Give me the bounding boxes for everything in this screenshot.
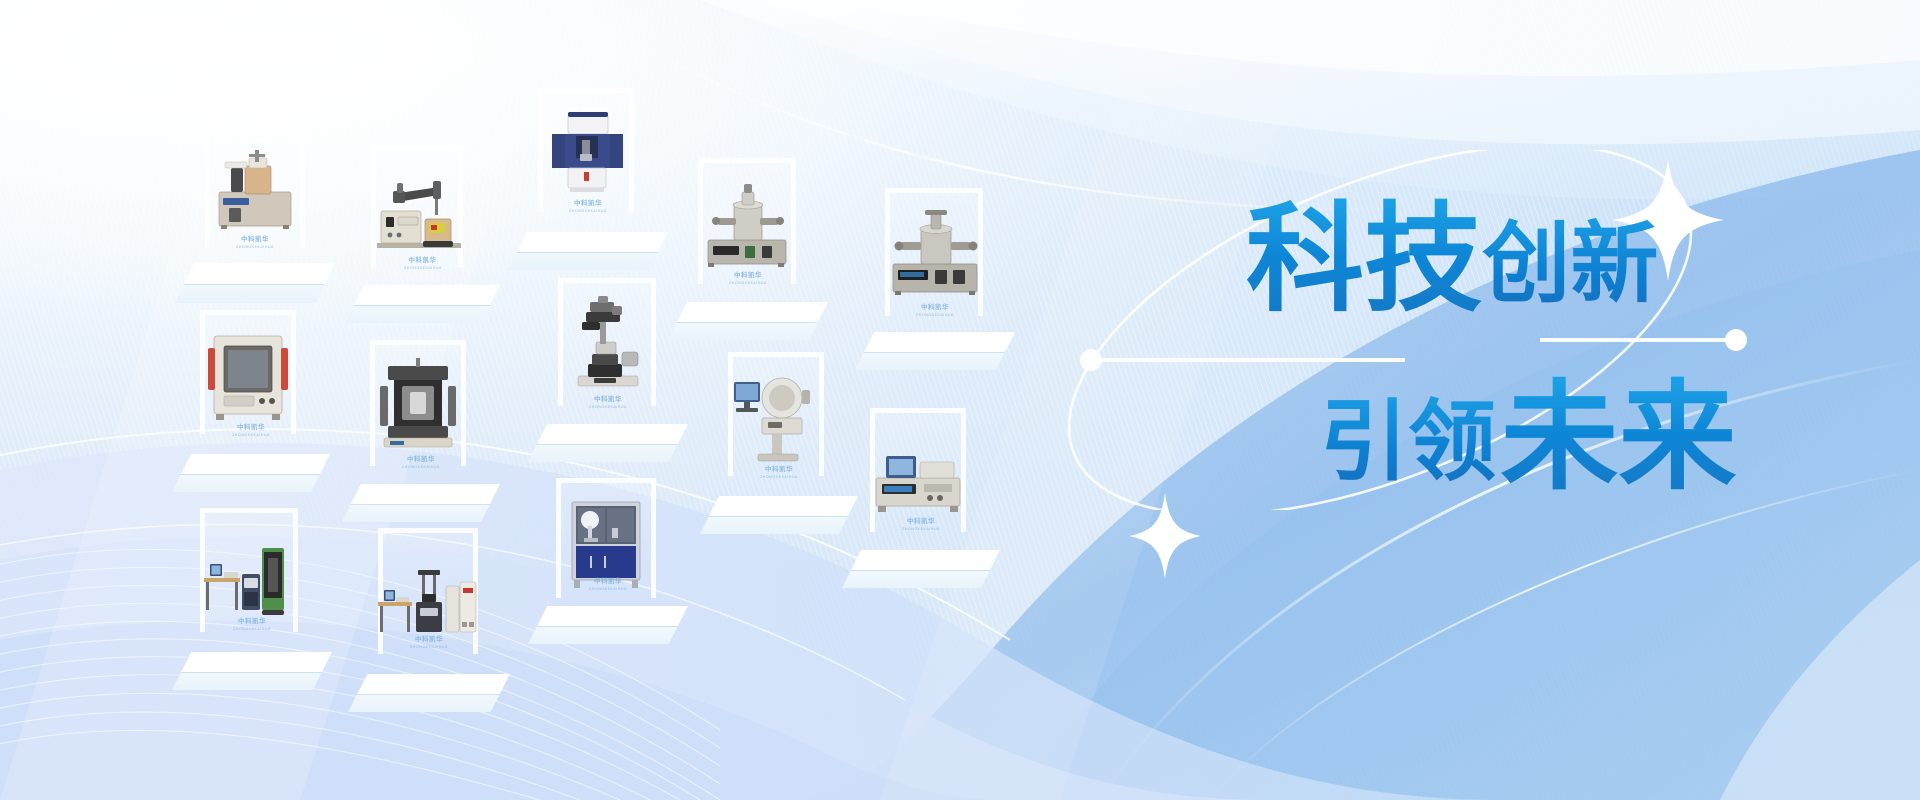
watermark-en: ZHONGKEKAIHUA xyxy=(233,626,271,631)
product-card[interactable]: 中科凯华 ZHONGKEKAIHUA xyxy=(668,158,828,340)
product-pedestal xyxy=(348,674,510,712)
headline-line-1-tail: 创新 xyxy=(1482,212,1658,315)
product-watermark: 中科凯华 ZHONGKEKAIHUA xyxy=(914,304,955,317)
product-image xyxy=(372,356,464,452)
watermark-cn: 中科凯华 xyxy=(408,636,449,644)
product-image xyxy=(542,106,630,198)
product-card[interactable]: 中科凯华 ZHONGKEKAIHUA xyxy=(175,118,335,303)
headline-line-1-lead: 科技 xyxy=(1246,190,1482,328)
product-pedestal xyxy=(172,652,332,690)
product-watermark: 中科凯华 ZHONGKEKAIHUA xyxy=(400,456,441,469)
product-card[interactable]: 中科凯华 ZHONGKEKAIHUA xyxy=(345,145,500,323)
watermark-en: ZHONGKEKAIHUA xyxy=(760,474,798,479)
watermark-cn: 中科凯华 xyxy=(914,304,955,312)
watermark-en: ZHONGKEKAIHUA xyxy=(410,644,448,649)
watermark-en: ZHONGKEKAIHUA xyxy=(402,464,440,469)
product-pedestal xyxy=(842,550,1000,588)
product-image xyxy=(373,175,465,255)
watermark-cn: 中科凯华 xyxy=(567,200,608,208)
headline-block: 科技创新 引领未来 xyxy=(1160,0,1920,800)
watermark-en: ZHONGKEKAIHUA xyxy=(589,404,627,409)
node-dot-left xyxy=(1080,349,1102,371)
product-card[interactable]: 中科凯华 ZHONGKEKAIHUA xyxy=(855,188,1015,370)
watermark-cn: 中科凯华 xyxy=(234,236,275,244)
product-watermark: 中科凯华 ZHONGKEKAIHUA xyxy=(230,424,271,437)
watermark-cn: 中科凯华 xyxy=(727,272,768,280)
product-watermark: 中科凯华 ZHONGKEKAIHUA xyxy=(231,618,272,631)
product-image xyxy=(887,206,983,300)
product-watermark: 中科凯华 ZHONGKEKAIHUA xyxy=(567,200,608,213)
watermark-cn: 中科凯华 xyxy=(400,456,441,464)
product-watermark: 中科凯华 ZHONGKEKAIHUA xyxy=(900,518,941,531)
watermark-en: ZHONGKEKAIHUA xyxy=(232,432,270,437)
product-pedestal xyxy=(175,263,335,303)
watermark-cn: 中科凯华 xyxy=(230,424,271,432)
watermark-en: ZHONGKEKAIHUA xyxy=(902,526,940,531)
watermark-en: ZHONGKEKAIHUA xyxy=(916,312,954,317)
watermark-cn: 中科凯华 xyxy=(231,618,272,626)
product-image xyxy=(728,368,824,464)
product-card[interactable]: 中科凯华 ZHONGKEKAIHUA xyxy=(528,278,688,462)
watermark-en: ZHONGKEKAIHUA xyxy=(569,208,607,213)
product-pedestal xyxy=(528,424,688,462)
product-watermark: 中科凯华 ZHONGKEKAIHUA xyxy=(234,236,275,249)
product-image xyxy=(202,330,294,422)
product-watermark: 中科凯华 ZHONGKEKAIHUA xyxy=(587,578,628,591)
product-image xyxy=(870,432,966,518)
product-image xyxy=(560,292,654,392)
product-pedestal xyxy=(345,285,500,323)
product-pedestal xyxy=(855,332,1015,370)
product-watermark: 中科凯华 ZHONGKEKAIHUA xyxy=(758,466,799,479)
watermark-cn: 中科凯华 xyxy=(587,578,628,586)
watermark-en: ZHONGKEKAIHUA xyxy=(404,265,442,270)
headline-line-2-lead: 引领 xyxy=(1320,390,1496,493)
product-watermark: 中科凯华 ZHONGKEKAIHUA xyxy=(402,257,443,270)
headline-line-1: 科技创新 xyxy=(1246,200,1659,318)
product-pedestal xyxy=(668,302,828,340)
product-watermark: 中科凯华 ZHONGKEKAIHUA xyxy=(727,272,768,285)
product-card[interactable]: 中科凯华 ZHONGKEKAIHUA xyxy=(508,88,668,270)
banner-root: 科技创新 引领未来 中科凯华 Z xyxy=(0,0,1920,800)
product-card[interactable]: 中科凯华 ZHONGKEKAIHUA xyxy=(700,352,858,534)
product-watermark: 中科凯华 ZHONGKEKAIHUA xyxy=(408,636,449,649)
product-card[interactable]: 中科凯华 ZHONGKEKAIHUA xyxy=(528,478,688,644)
product-image xyxy=(209,146,301,232)
product-card[interactable]: 中科凯华 ZHONGKEKAIHUA xyxy=(172,508,332,690)
product-card[interactable]: 中科凯华 ZHONGKEKAIHUA xyxy=(342,340,500,522)
headline-line-2: 引领未来 xyxy=(1320,378,1737,496)
product-card[interactable]: 中科凯华 ZHONGKEKAIHUA xyxy=(172,310,330,492)
product-image xyxy=(700,178,794,270)
product-pedestal xyxy=(528,606,688,644)
watermark-cn: 中科凯华 xyxy=(587,396,628,404)
watermark-en: ZHONGKEKAIHUA xyxy=(589,586,627,591)
product-pedestal xyxy=(508,232,668,270)
watermark-en: ZHONGKEKAIHUA xyxy=(236,244,274,249)
product-pedestal xyxy=(172,454,330,492)
product-image xyxy=(198,534,298,618)
watermark-cn: 中科凯华 xyxy=(900,518,941,526)
watermark-cn: 中科凯华 xyxy=(758,466,799,474)
product-image xyxy=(374,556,480,640)
headline-line-2-tail: 未来 xyxy=(1500,368,1736,506)
product-pedestal xyxy=(700,496,858,534)
product-card[interactable]: 中科凯华 ZHONGKEKAIHUA xyxy=(842,408,1000,588)
watermark-en: ZHONGKEKAIHUA xyxy=(729,280,767,285)
product-pedestal xyxy=(342,484,500,522)
product-watermark: 中科凯华 ZHONGKEKAIHUA xyxy=(587,396,628,409)
watermark-cn: 中科凯华 xyxy=(402,257,443,265)
product-card[interactable]: 中科凯华 ZHONGKEKAIHUA xyxy=(348,528,510,712)
